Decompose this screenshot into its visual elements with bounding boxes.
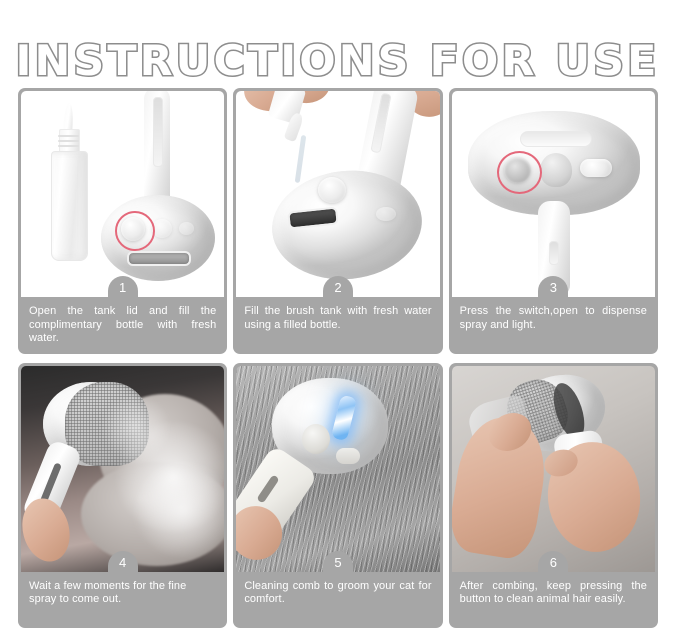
top-vent-slot-icon	[520, 131, 592, 147]
water-mist-icon	[101, 396, 171, 460]
instruction-step-6: 6 After combing, keep pressing the butto…	[449, 363, 658, 629]
handle-slot-icon	[549, 241, 559, 265]
step-2-illustration: 2	[236, 91, 439, 297]
instruction-step-grid: 1 Open the tank lid and fill the complim…	[18, 88, 658, 628]
instruction-step-4: 4 Wait a few moments for the fine spray …	[18, 363, 227, 629]
water-mist-icon	[133, 462, 224, 558]
step-1-illustration: 1	[21, 91, 224, 297]
center-knob-icon[interactable]	[302, 424, 330, 454]
step-6-illustration: 6	[452, 366, 655, 572]
step-6-caption: After combing, keep pressing the button …	[449, 572, 658, 629]
handle-slot-icon	[153, 97, 163, 167]
step-4-illustration: 4	[21, 366, 224, 572]
clean-hair-scene	[452, 366, 655, 572]
highlight-ring-icon	[115, 211, 155, 251]
step-4-caption: Wait a few moments for the fine spray to…	[18, 572, 227, 629]
side-button-icon[interactable]	[580, 159, 612, 177]
refill-bottle-icon	[51, 151, 88, 261]
combing-cat-scene	[236, 366, 439, 572]
spray-on-cat-scene	[21, 366, 224, 572]
center-knob-icon[interactable]	[540, 153, 572, 187]
water-stream-icon	[295, 135, 307, 183]
step-1-caption: Open the tank lid and fill the complimen…	[18, 297, 227, 354]
instruction-step-1: 1 Open the tank lid and fill the complim…	[18, 88, 227, 354]
step-5-caption: Cleaning comb to groom your cat for comf…	[233, 572, 442, 629]
side-button-icon[interactable]	[336, 448, 360, 464]
bottle-thread-ring-icon	[58, 145, 79, 147]
hair-release-slot-icon	[127, 251, 191, 266]
instruction-step-3: 3 Press the switch,open to dispense spra…	[449, 88, 658, 354]
bottle-thread-ring-icon	[58, 140, 79, 142]
instruction-step-5: 5 Cleaning comb to groom your cat for co…	[233, 363, 442, 629]
filling-tank-scene	[236, 91, 439, 297]
step-2-caption: Fill the brush tank with fresh water usi…	[233, 297, 442, 354]
bottle-and-brush-scene	[21, 91, 224, 297]
page-title: INSTRUCTIONS FOR USE	[0, 34, 675, 88]
instruction-step-2: 2 Fill the brush tank with fresh water u…	[233, 88, 442, 354]
highlight-ring-icon	[497, 151, 542, 194]
step-3-caption: Press the switch,open to dispense spray …	[449, 297, 658, 354]
bottle-nozzle-tip-icon	[63, 103, 73, 131]
center-knob-icon[interactable]	[152, 219, 172, 238]
side-button-icon[interactable]	[179, 222, 194, 235]
step-5-illustration: 5	[236, 366, 439, 572]
step-3-illustration: 3	[452, 91, 655, 297]
bottle-thread-ring-icon	[58, 135, 79, 137]
press-switch-scene	[452, 91, 655, 297]
